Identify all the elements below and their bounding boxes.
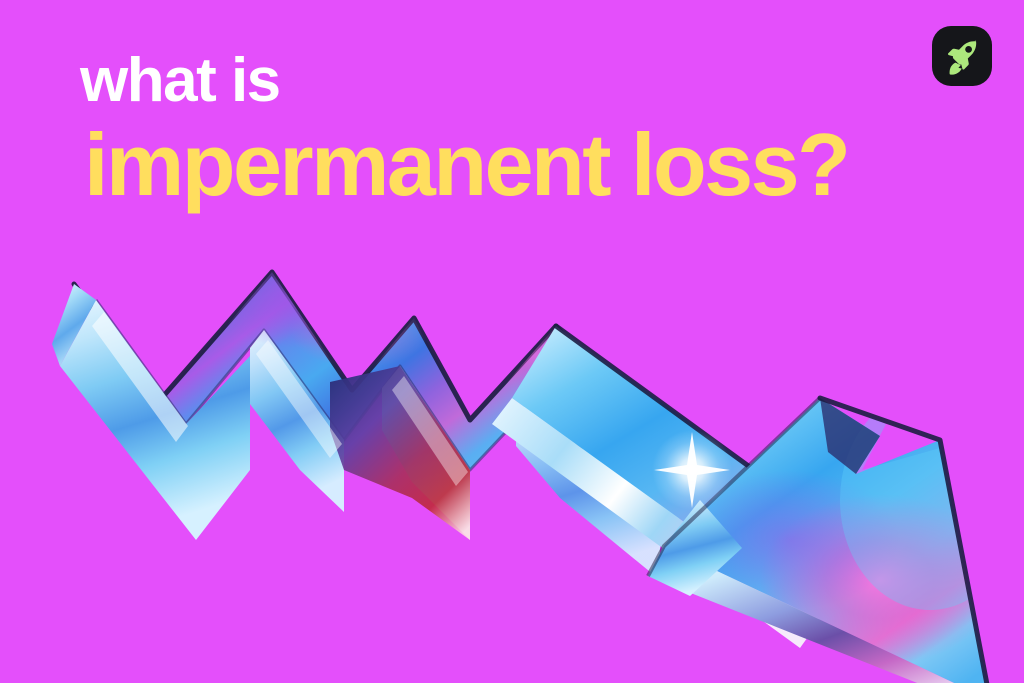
arrowhead-violet-sheen [680, 470, 900, 610]
rocket-icon [942, 36, 982, 76]
ribbon-fold-edge [96, 300, 660, 536]
arrowhead-bevel [648, 546, 990, 683]
headline-block: what is impermanent loss? [80, 52, 960, 209]
ribbon-top-edge [74, 272, 700, 500]
ribbon-front-face-4 [516, 400, 660, 580]
ribbon-front-face-3 [382, 366, 470, 540]
arrow-ribbon [52, 252, 700, 580]
poster-canvas: what is impermanent loss? [0, 0, 1024, 683]
arrowhead-edge [820, 398, 990, 683]
ribbon-top-face [74, 272, 700, 536]
highlight-streak-3 [392, 376, 468, 486]
arrow-shaft [492, 326, 886, 648]
brand-logo-badge[interactable] [932, 26, 992, 86]
ribbon-front-face-2 [250, 330, 344, 512]
arrowhead-pink-sheen [760, 494, 1000, 666]
shaft-top-face [512, 326, 880, 620]
highlight-streak-2 [256, 340, 342, 458]
sparkle-highlight [652, 430, 732, 510]
arrowhead-left-wing [648, 500, 742, 596]
eyebrow-text: what is [80, 52, 960, 111]
arrowhead-top-face [664, 398, 990, 683]
highlight-streak-1 [92, 312, 188, 442]
page-title: impermanent loss? [84, 121, 960, 209]
shaft-top-edge [556, 326, 886, 566]
ribbon-side-wall-1 [52, 284, 96, 366]
ribbon-front-face-1 [60, 300, 250, 540]
arrowhead-left-edge [648, 398, 820, 576]
pink-sheen-1 [290, 292, 430, 368]
shaft-bevel [492, 398, 820, 648]
arrowhead-cyan-sheen [840, 390, 1020, 610]
ribbon-hot-zone [330, 366, 470, 540]
arrowhead-notch [820, 398, 880, 474]
arrow-head [648, 390, 1020, 683]
violet-sheen-1 [210, 252, 390, 348]
pink-sheen-2 [480, 322, 600, 390]
violet-sheen-2 [512, 328, 680, 416]
